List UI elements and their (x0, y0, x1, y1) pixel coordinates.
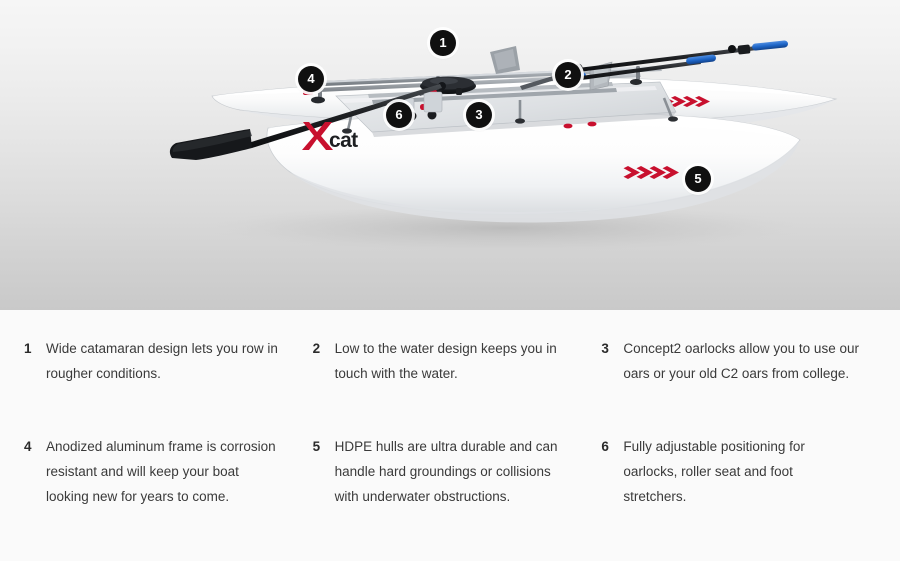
feature-description: Low to the water design keeps you in tou… (335, 336, 571, 386)
callout-badge-4[interactable]: 4 (298, 66, 324, 92)
callout-badge-6[interactable]: 6 (386, 102, 412, 128)
feature-description: Anodized aluminum frame is corrosion res… (46, 434, 282, 509)
callout-badge-3[interactable]: 3 (466, 102, 492, 128)
features-panel: 1 Wide catamaran design lets you row in … (0, 310, 900, 561)
product-feature-page: cat 1 2 3 4 5 6 1 Wide catamaran design … (0, 0, 900, 561)
feature-item-3: 3 Concept2 oarlocks allow you to use our… (601, 336, 876, 386)
feature-item-4: 4 Anodized aluminum frame is corrosion r… (24, 434, 299, 509)
feature-item-1: 1 Wide catamaran design lets you row in … (24, 336, 299, 386)
product-hero-image: cat 1 2 3 4 5 6 (0, 0, 900, 310)
feature-item-6: 6 Fully adjustable positioning for oarlo… (601, 434, 876, 509)
feature-description: Concept2 oarlocks allow you to use our o… (623, 336, 859, 386)
feature-number: 5 (313, 434, 321, 459)
feature-number: 1 (24, 336, 32, 361)
feature-description: Wide catamaran design lets you row in ro… (46, 336, 282, 386)
feature-number: 4 (24, 434, 32, 459)
callout-badge-2[interactable]: 2 (555, 62, 581, 88)
feature-description: HDPE hulls are ultra durable and can han… (335, 434, 571, 509)
callout-badge-1[interactable]: 1 (430, 30, 456, 56)
oar-blade-upper (490, 46, 520, 74)
feature-item-5: 5 HDPE hulls are ultra durable and can h… (313, 434, 588, 509)
svg-text:cat: cat (329, 129, 358, 152)
feature-number: 6 (601, 434, 609, 459)
feature-number: 3 (601, 336, 609, 361)
callout-badge-5[interactable]: 5 (685, 166, 711, 192)
feature-number: 2 (313, 336, 321, 361)
hero-stage: cat 1 2 3 4 5 6 (0, 0, 900, 310)
feature-item-2: 2 Low to the water design keeps you in t… (313, 336, 588, 386)
starboard-oar-upper (578, 40, 788, 72)
features-grid: 1 Wide catamaran design lets you row in … (24, 336, 876, 509)
feature-description: Fully adjustable positioning for oarlock… (623, 434, 859, 509)
